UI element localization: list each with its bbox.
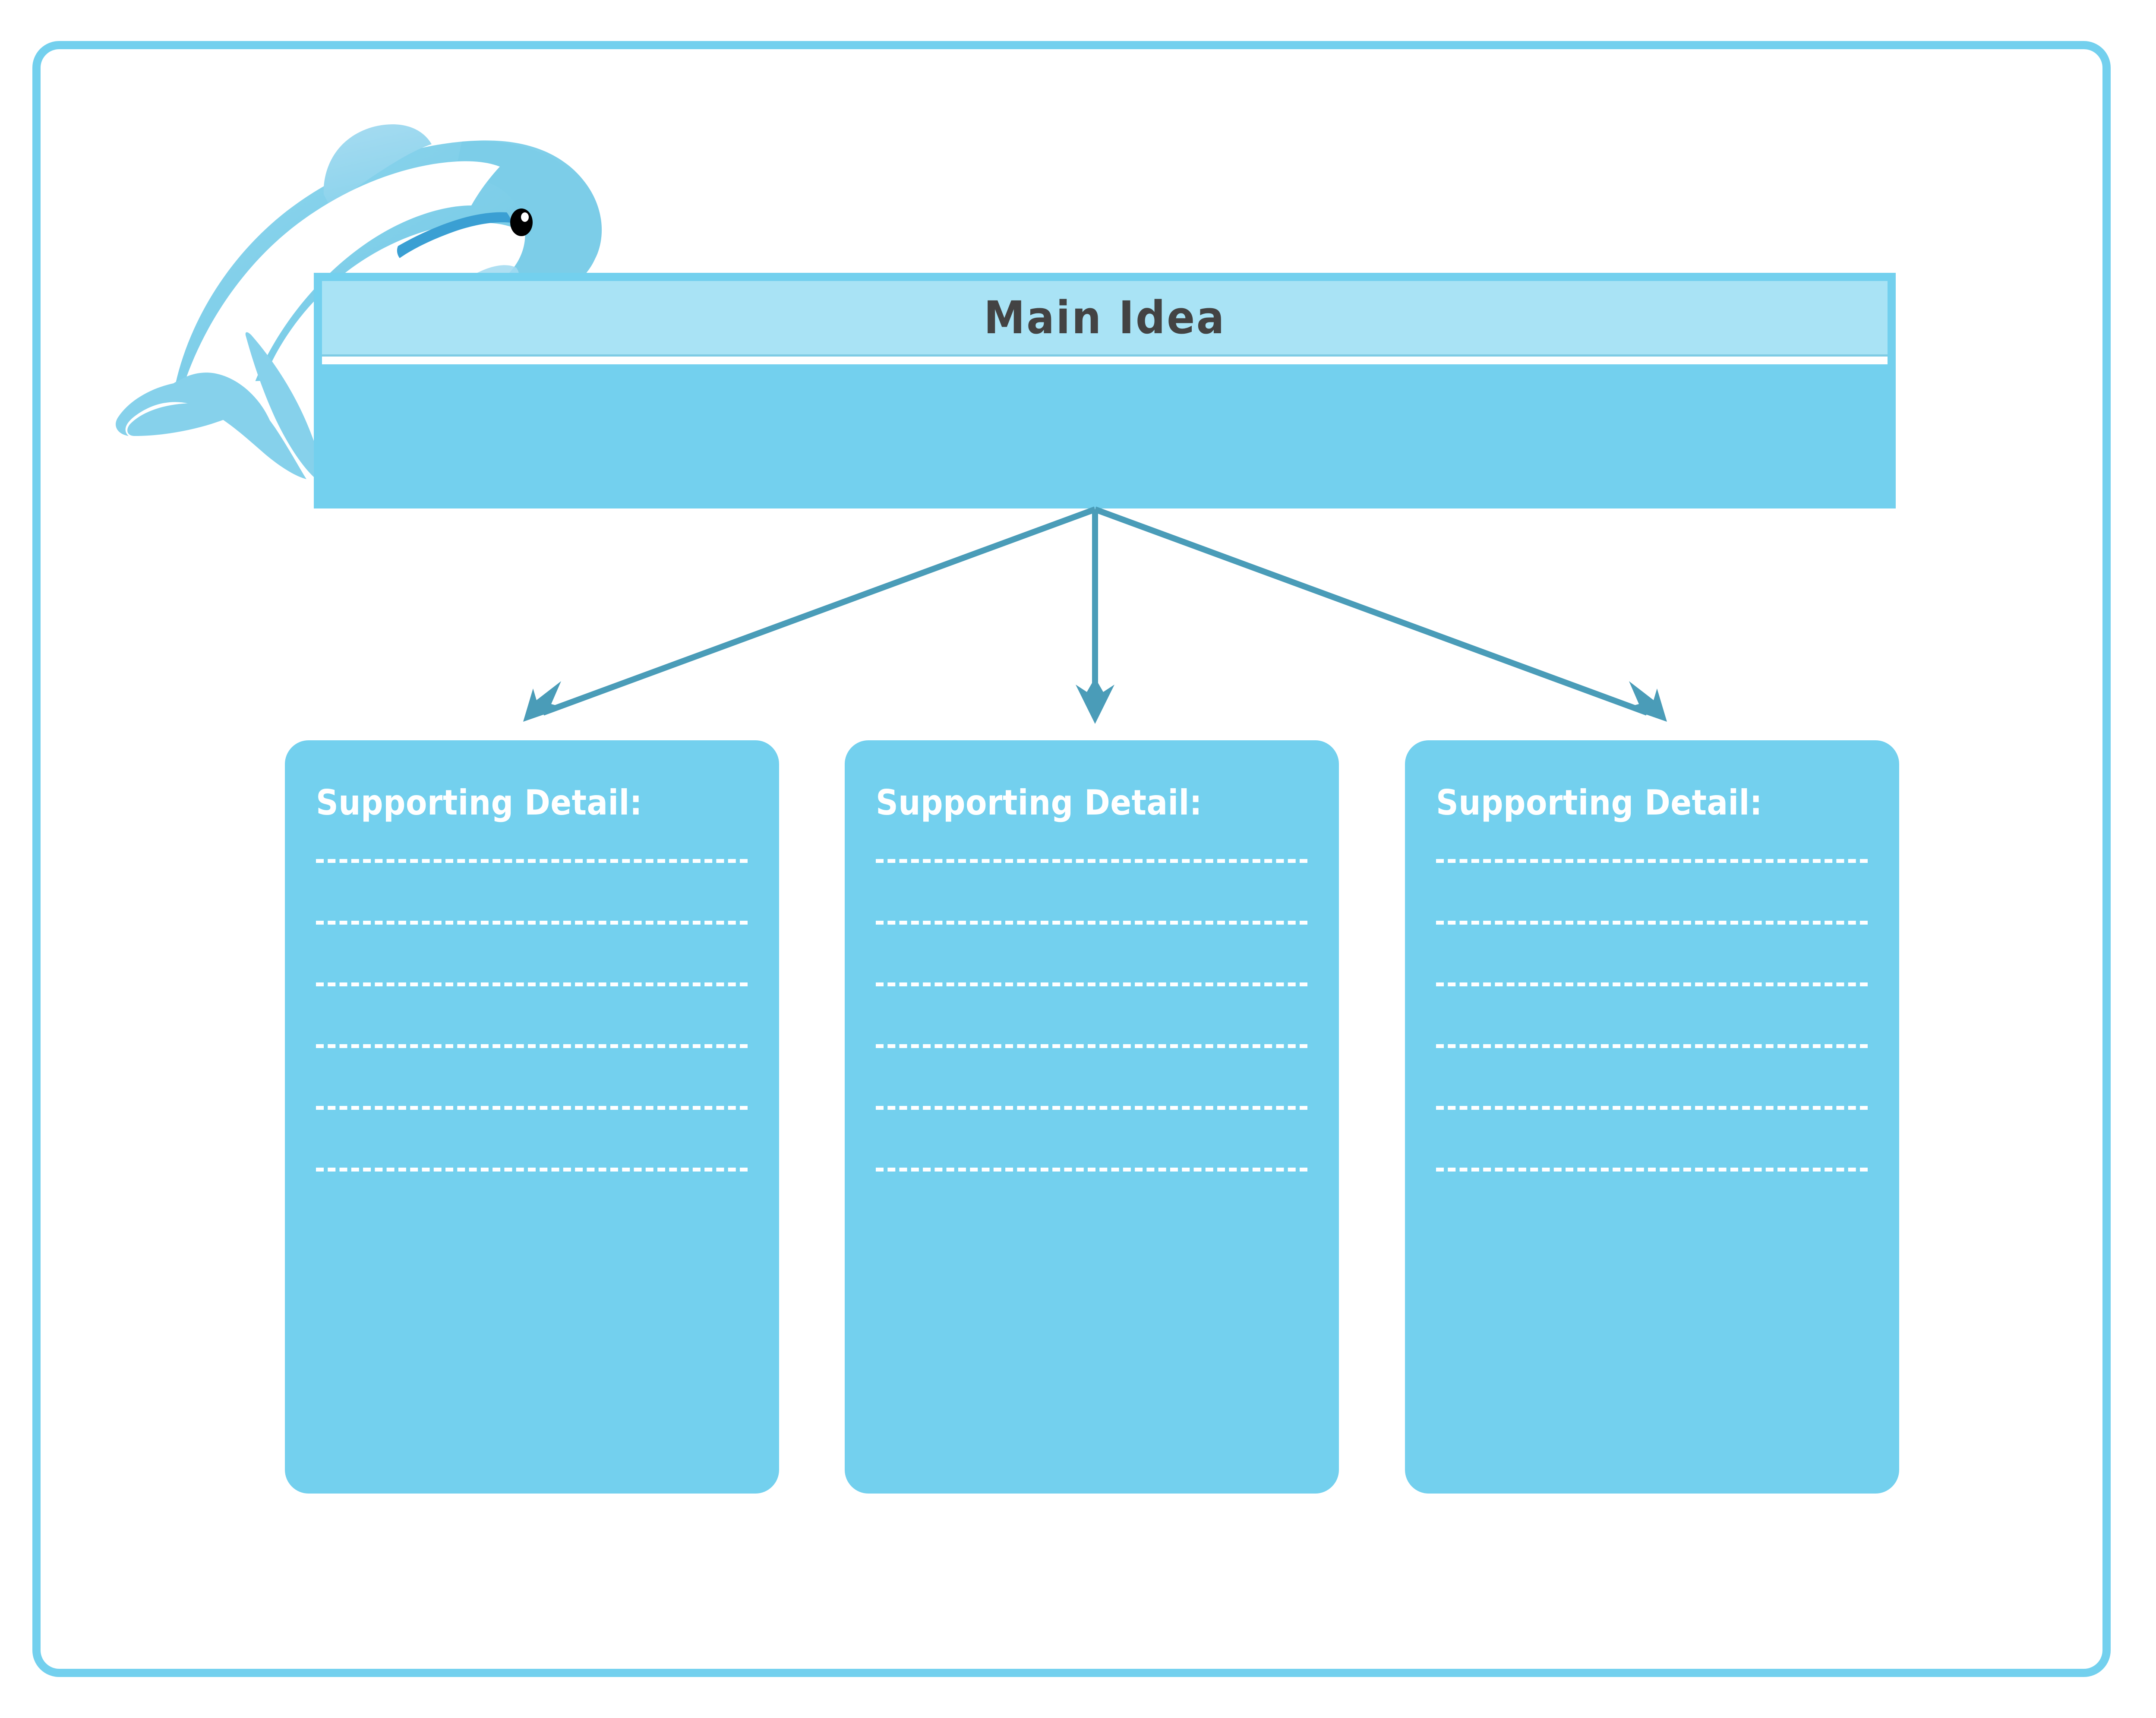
write-line[interactable] [316, 982, 748, 986]
write-line[interactable] [876, 859, 1307, 863]
write-line[interactable] [316, 859, 748, 863]
write-line[interactable] [1436, 1106, 1868, 1110]
main-idea-box[interactable]: Main Idea [314, 273, 1896, 508]
supporting-detail-label: Supporting Detail: [1436, 786, 1762, 820]
write-line[interactable] [316, 921, 748, 925]
write-line[interactable] [316, 1168, 748, 1172]
arrow-to-detail-3 [1095, 509, 1667, 722]
arrow-to-detail-2 [1076, 509, 1114, 724]
write-line[interactable] [876, 1044, 1307, 1048]
supporting-detail-box-3[interactable]: Supporting Detail: [1405, 740, 1899, 1494]
write-line[interactable] [876, 1168, 1307, 1172]
write-line[interactable] [1436, 1168, 1868, 1172]
write-line[interactable] [1436, 859, 1868, 863]
worksheet-page: Main Idea Supporting Detail: [0, 0, 2156, 1718]
main-idea-title: Main Idea [984, 295, 1226, 340]
write-line[interactable] [316, 1106, 748, 1110]
write-line[interactable] [876, 1106, 1307, 1110]
dolphin-eye [510, 208, 533, 236]
write-line[interactable] [1436, 921, 1868, 925]
supporting-detail-lines[interactable] [876, 859, 1307, 1172]
arrow-to-detail-1 [523, 509, 1095, 722]
write-line[interactable] [876, 982, 1307, 986]
write-line[interactable] [1436, 1044, 1868, 1048]
main-idea-write-area[interactable] [322, 364, 1888, 500]
main-idea-header: Main Idea [322, 281, 1888, 354]
supporting-detail-label: Supporting Detail: [876, 786, 1202, 820]
dolphin-eye-highlight [521, 212, 529, 222]
supporting-detail-box-1[interactable]: Supporting Detail: [285, 740, 779, 1494]
supporting-detail-box-2[interactable]: Supporting Detail: [845, 740, 1339, 1494]
write-line[interactable] [876, 921, 1307, 925]
main-idea-divider-gap [322, 357, 1888, 364]
write-line[interactable] [316, 1044, 748, 1048]
supporting-detail-label: Supporting Detail: [316, 786, 642, 820]
supporting-detail-lines[interactable] [1436, 859, 1868, 1172]
supporting-detail-lines[interactable] [316, 859, 748, 1172]
write-line[interactable] [1436, 982, 1868, 986]
